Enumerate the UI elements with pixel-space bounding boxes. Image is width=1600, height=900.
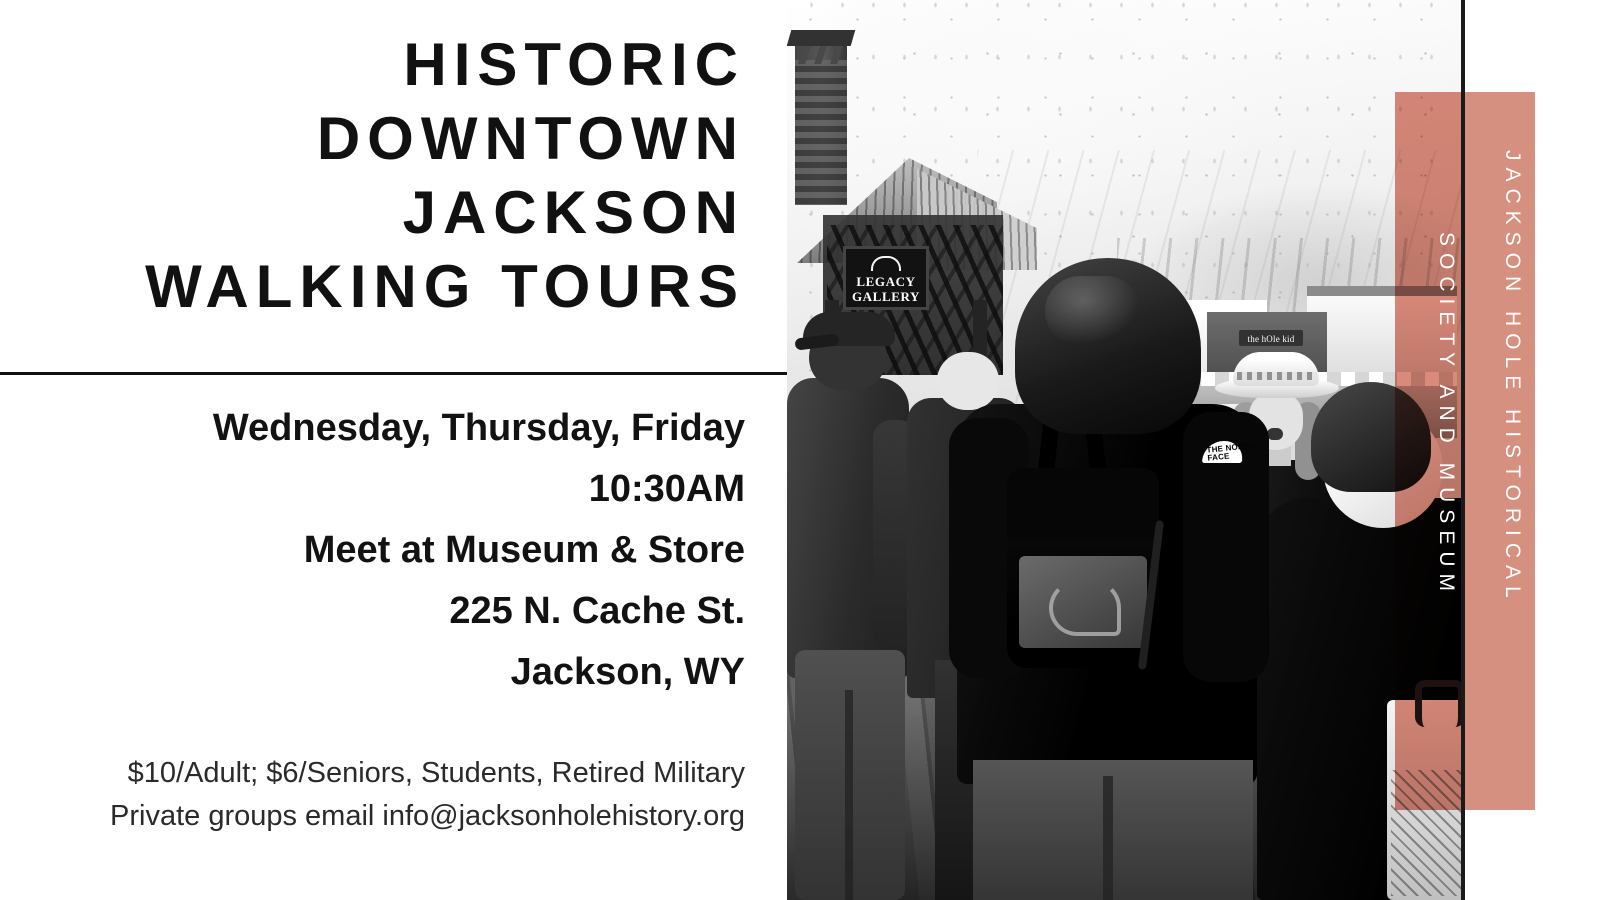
detail-city-state: Jackson, WY	[0, 642, 745, 703]
brand-line-1: JACKSON HOLE HISTORICAL	[1502, 150, 1523, 605]
fineprint-contact-email: Private groups email info@jacksonholehis…	[0, 795, 745, 838]
text-panel: HISTORIC DOWNTOWN JACKSON WALKING TOURS …	[0, 0, 787, 900]
tour-guide-mouth	[1267, 428, 1283, 440]
storefront-sign-text: the hOle kid	[1239, 331, 1303, 347]
building-siding	[795, 60, 847, 205]
title-line-1: HISTORIC	[0, 28, 745, 102]
fineprint: $10/Adult; $6/Seniors, Students, Retired…	[0, 752, 745, 838]
detail-meeting-point: Meet at Museum & Store	[0, 520, 745, 581]
north-face-logo-icon: THE NORTH FACE	[1203, 438, 1261, 472]
backpack-flap	[1007, 468, 1159, 540]
title-line-2: DOWNTOWN	[0, 102, 745, 176]
logo-text: THE NORTH FACE	[1206, 441, 1259, 462]
center-figure-jeans-seam	[1103, 776, 1113, 900]
horizontal-divider	[0, 372, 787, 375]
tour-participant-left-leg-seam	[845, 690, 853, 900]
tour-details: Wednesday, Thursday, Friday 10:30AM Meet…	[0, 398, 745, 703]
cowboy-hat-crown	[1233, 352, 1319, 386]
page-title: HISTORIC DOWNTOWN JACKSON WALKING TOURS	[0, 28, 745, 324]
backpack-swirl-motif	[1049, 580, 1121, 636]
detail-time: 10:30AM	[0, 459, 745, 520]
title-line-4: WALKING TOURS	[0, 250, 745, 324]
center-figure-jeans	[973, 760, 1253, 900]
poster: HISTORIC DOWNTOWN JACKSON WALKING TOURS …	[0, 0, 1600, 900]
fineprint-pricing: $10/Adult; $6/Seniors, Students, Retired…	[0, 752, 745, 795]
brand-text-group: JACKSON HOLE HISTORICAL SOCIETY AND MUSE…	[1395, 92, 1535, 810]
detail-days: Wednesday, Thursday, Friday	[0, 398, 745, 459]
center-figure-hair-highlight	[1045, 276, 1141, 346]
sign-arch-emblem	[846, 253, 926, 273]
sign-text-gallery: GALLERY	[852, 289, 920, 304]
building-eave	[787, 30, 855, 46]
sign-text-legacy: LEGACY	[856, 274, 915, 289]
legacy-gallery-sign: LEGACY GALLERY	[843, 246, 929, 310]
brand-line-2: SOCIETY AND MUSEUM	[1436, 232, 1457, 598]
title-line-3: JACKSON	[0, 176, 745, 250]
tour-group-photo: the hOle kid LEGACY GALLERY	[787, 0, 1464, 900]
detail-street-address: 225 N. Cache St.	[0, 581, 745, 642]
tour-participant-second-head	[937, 352, 999, 410]
cowboy-hat-band	[1237, 372, 1317, 380]
